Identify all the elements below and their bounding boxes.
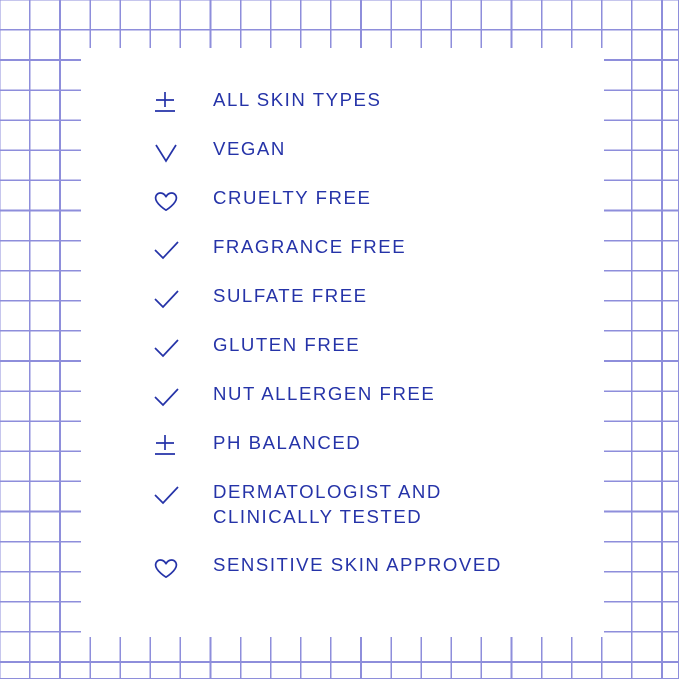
- heart-icon: [153, 554, 181, 584]
- list-item-label: SULFATE FREE: [213, 284, 583, 309]
- checkmark-icon: [153, 236, 181, 266]
- list-item-label: VEGAN: [213, 137, 583, 162]
- list-item-label: DERMATOLOGIST AND CLINICALLY TESTED: [213, 480, 583, 529]
- plus-minus-icon: [153, 432, 181, 462]
- list-item: CRUELTY FREE: [153, 186, 583, 235]
- claims-list: ALL SKIN TYPES VEGAN CRUELTY FREE: [153, 88, 583, 602]
- checkmark-icon: [153, 481, 181, 511]
- list-item: NUT ALLERGEN FREE: [153, 382, 583, 431]
- checkmark-icon: [153, 285, 181, 315]
- list-item-label: ALL SKIN TYPES: [213, 88, 583, 113]
- list-item: GLUTEN FREE: [153, 333, 583, 382]
- list-item-label: NUT ALLERGEN FREE: [213, 382, 583, 407]
- list-item: FRAGRANCE FREE: [153, 235, 583, 284]
- list-item-label: CRUELTY FREE: [213, 186, 583, 211]
- plus-minus-icon: [153, 89, 181, 119]
- list-item-label: FRAGRANCE FREE: [213, 235, 583, 260]
- list-item: SENSITIVE SKIN APPROVED: [153, 553, 583, 602]
- checkmark-icon: [153, 334, 181, 364]
- checkmark-icon: [153, 383, 181, 413]
- heart-icon: [153, 187, 181, 217]
- list-item-label: GLUTEN FREE: [213, 333, 583, 358]
- list-item-label: SENSITIVE SKIN APPROVED: [213, 553, 583, 578]
- vegan-v-icon: [153, 138, 181, 168]
- list-item: SULFATE FREE: [153, 284, 583, 333]
- product-claims-graphic: ALL SKIN TYPES VEGAN CRUELTY FREE: [0, 0, 679, 679]
- list-item: ALL SKIN TYPES: [153, 88, 583, 137]
- list-item: PH BALANCED: [153, 431, 583, 480]
- list-item-label: PH BALANCED: [213, 431, 583, 456]
- list-item: DERMATOLOGIST AND CLINICALLY TESTED: [153, 480, 583, 553]
- list-item: VEGAN: [153, 137, 583, 186]
